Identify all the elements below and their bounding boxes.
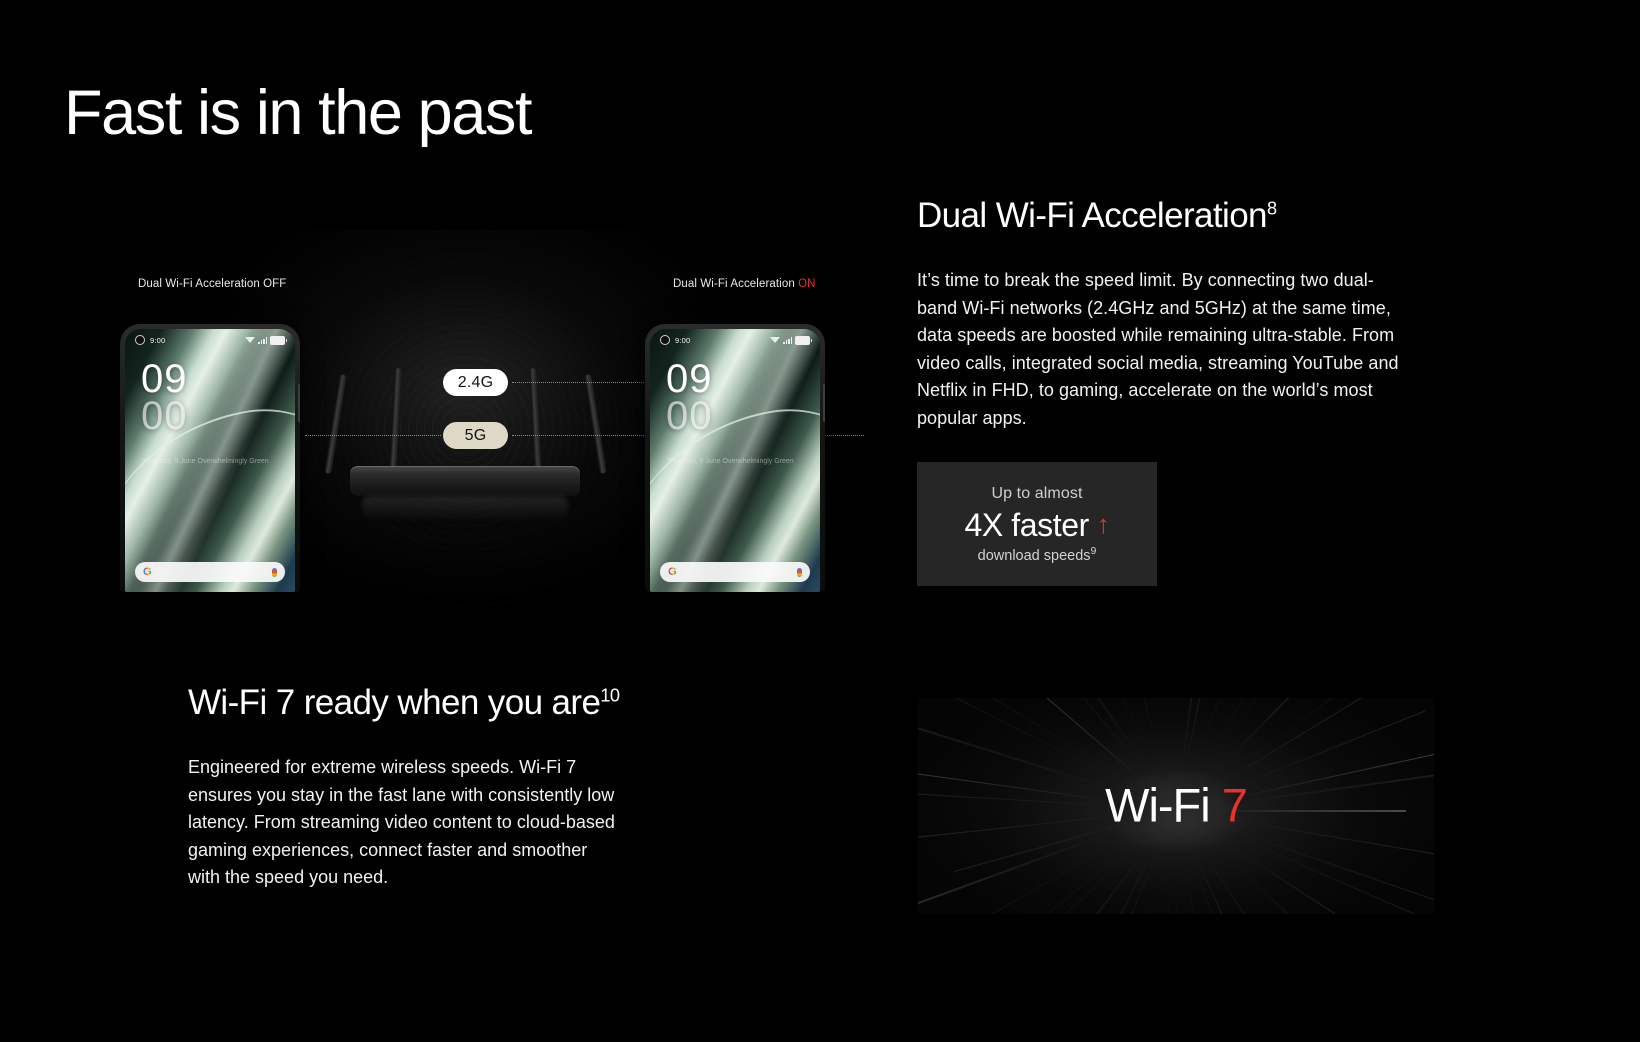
router-graphic [350,458,580,496]
connection-line-5g-left [305,435,441,436]
stat-card-bottom-text: download speeds [978,548,1091,564]
phone-right-screen: 9:00 09 00 Thursday, 9 June Overwhelming… [650,329,820,592]
router-antenna [584,374,607,474]
phone-right: 9:00 09 00 Thursday, 9 June Overwhelming… [645,324,825,592]
phone-left-screen: 9:00 09 00 Thursday, 9 June Overwhelming… [125,329,295,592]
front-camera-icon [660,335,670,345]
dual-wifi-title-text: Dual Wi-Fi Acceleration [917,196,1267,235]
lockscreen-minutes: 00 [141,398,188,435]
dual-wifi-title-footnote: 8 [1267,198,1277,218]
wifi7-section: Wi-Fi 7 ready when you are10 Engineered … [188,683,708,892]
microphone-icon[interactable] [272,568,277,577]
lockscreen-clock: 09 00 [666,361,713,435]
front-camera-icon [135,335,145,345]
battery-icon [795,336,810,345]
lockscreen-hours: 09 [666,361,713,398]
stat-card-value: 4X faster [964,507,1088,544]
dual-wifi-hero-image: Dual Wi-Fi Acceleration OFF Dual Wi-Fi A… [60,230,870,610]
phone-left: 9:00 09 00 Thursday, 9 June Overwhelming… [120,324,300,592]
wifi7-logo-text: Wi-Fi [1105,778,1222,831]
stat-card-bottom-label: download speeds9 [978,548,1097,564]
google-logo-icon: G [668,567,677,578]
statusbar-time: 9:00 [675,336,690,345]
hero-label-off: Dual Wi-Fi Acceleration OFF [138,278,286,290]
dual-wifi-title: Dual Wi-Fi Acceleration8 [917,196,1417,236]
dual-wifi-section: Dual Wi-Fi Acceleration8 It’s time to br… [917,196,1417,432]
band-badge-24g: 2.4G [443,369,508,396]
phone-right-statusbar: 9:00 [650,335,820,345]
marketing-page: Fast is in the past Dual Wi-Fi Accelerat… [0,0,1640,1042]
google-search-bar[interactable]: G [660,562,810,582]
lockscreen-subtitle: Thursday, 9 June Overwhelmingly Green [667,457,794,466]
wifi7-title: Wi-Fi 7 ready when you are10 [188,683,708,723]
wifi7-logo: Wi-Fi 7 [918,777,1434,832]
lockscreen-clock: 09 00 [141,361,188,435]
lockscreen-subtitle: Thursday, 9 June Overwhelmingly Green [142,457,269,466]
hero-label-on-prefix: Dual Wi-Fi Acceleration [673,278,798,290]
statusbar-indicators [770,336,810,345]
signal-icon [258,337,267,344]
lockscreen-minutes: 00 [666,398,713,435]
stat-card-download-speed: Up to almost 4X faster ↑ download speeds… [917,462,1157,586]
wifi7-body: Engineered for extreme wireless speeds. … [188,754,620,892]
wifi7-visual-panel: Wi-Fi 7 [918,698,1434,914]
wifi7-logo-number: 7 [1222,778,1247,831]
arrow-up-icon: ↑ [1097,511,1110,537]
statusbar-indicators [245,336,285,345]
microphone-icon[interactable] [797,568,802,577]
statusbar-time: 9:00 [150,336,165,345]
wifi7-title-footnote: 10 [600,685,619,705]
battery-icon [270,336,285,345]
router-body [350,466,580,496]
router-antenna [324,374,347,474]
router-reflection [362,496,568,522]
wifi-icon [245,337,255,343]
hero-label-on: Dual Wi-Fi Acceleration ON [673,278,816,290]
phone-left-statusbar: 9:00 [125,335,295,345]
router-antenna [389,368,402,474]
stat-card-top-label: Up to almost [991,485,1082,503]
wifi-icon [770,337,780,343]
wifi7-title-text: Wi-Fi 7 ready when you are [188,683,600,722]
hero-label-off-text: Dual Wi-Fi Acceleration OFF [138,278,286,290]
google-search-bar[interactable]: G [135,562,285,582]
wifi-rings-graphic [255,230,675,610]
band-badge-5g: 5G [443,422,508,449]
lockscreen-hours: 09 [141,361,188,398]
signal-icon [783,337,792,344]
stat-card-value-row: 4X faster ↑ [964,507,1109,544]
router-antenna [529,368,542,474]
google-logo-icon: G [143,567,152,578]
page-title: Fast is in the past [64,80,531,146]
hero-label-on-state: ON [798,278,815,290]
stat-card-bottom-footnote: 9 [1091,546,1097,557]
dual-wifi-body: It’s time to break the speed limit. By c… [917,267,1409,432]
